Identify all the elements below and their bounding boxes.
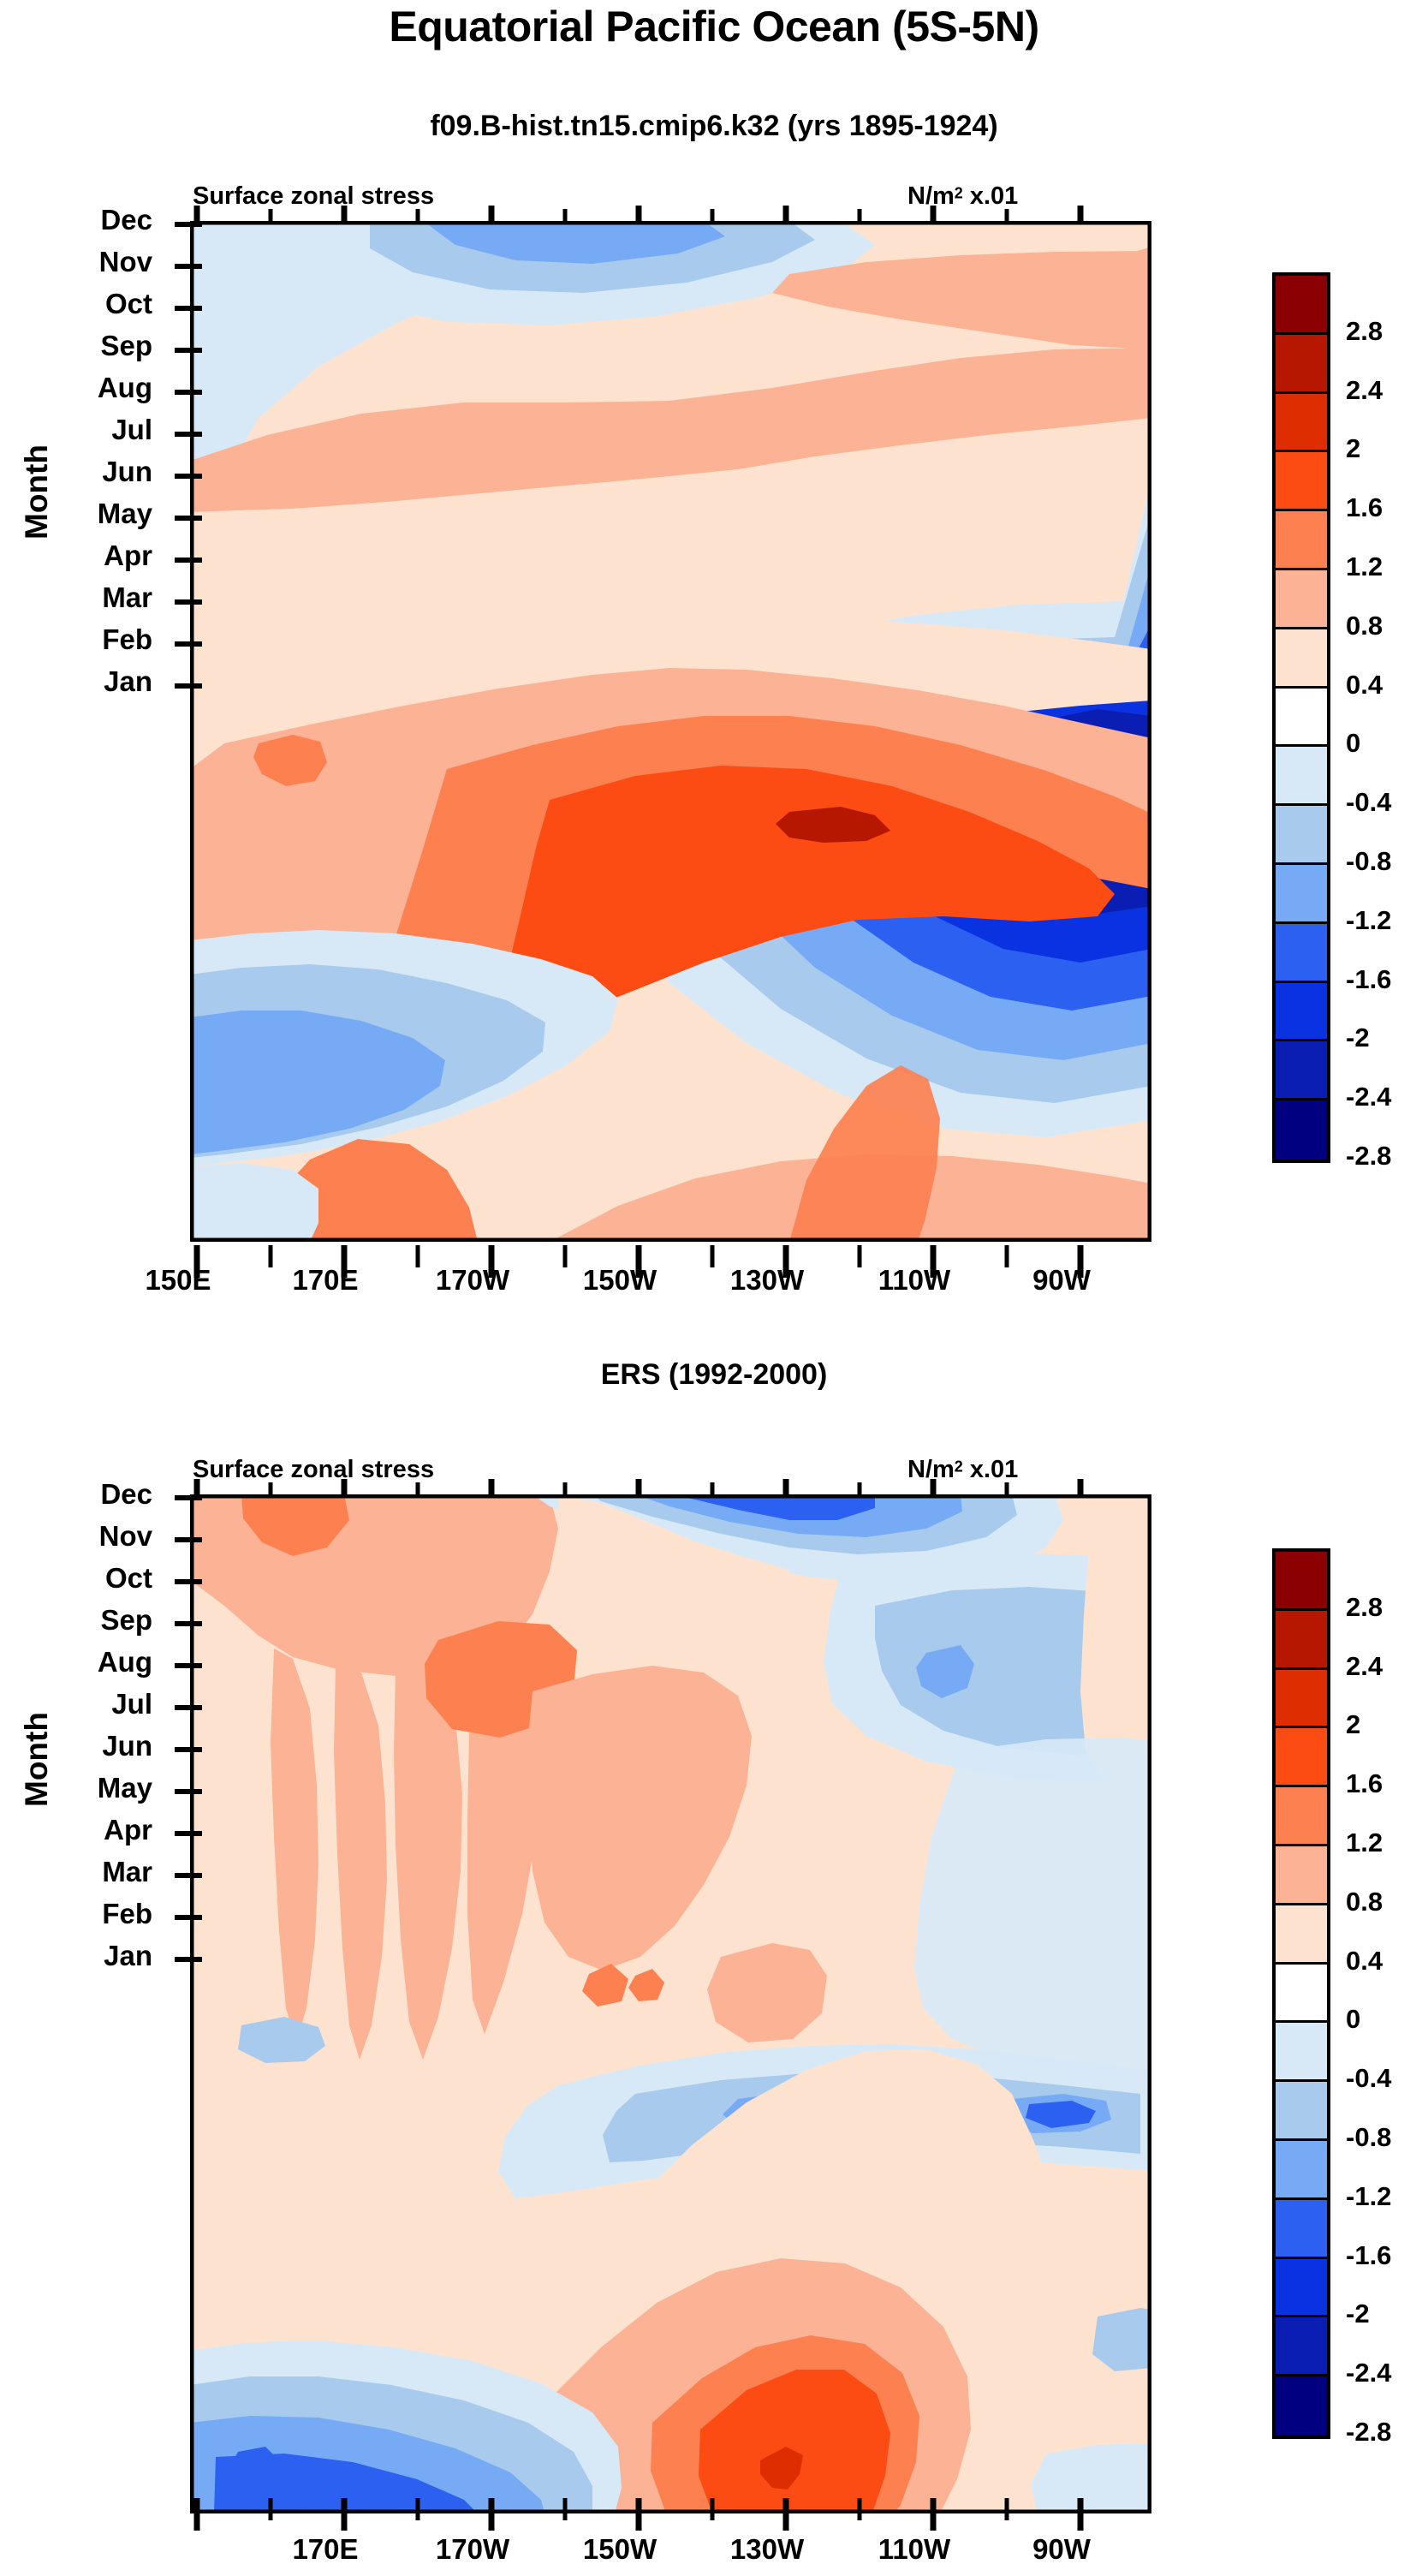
panel-2-ytick-jan: Jan xyxy=(33,1940,152,1972)
colorbar-1-swatch xyxy=(1276,747,1327,806)
panel-1-ytick-sep: Sep xyxy=(33,330,152,362)
colorbar-1-strip xyxy=(1272,272,1330,1163)
colorbar-1-swatch xyxy=(1276,452,1327,511)
colorbar-1-tick-label: 1.6 xyxy=(1346,492,1428,523)
panel-1-xtick-3: 150W xyxy=(551,1264,688,1297)
colorbar-2-swatch xyxy=(1276,2200,1327,2259)
panel-2-plot-area xyxy=(190,1494,1151,2513)
panel-1-unit-post: x.01 xyxy=(963,182,1019,210)
colorbar-2-tick-label: -2.8 xyxy=(1346,2417,1428,2448)
panel-1-ytick-oct: Oct xyxy=(33,288,152,320)
panel-1-xtick-4: 130W xyxy=(699,1264,836,1297)
colorbar-2-swatch xyxy=(1276,1905,1327,1965)
colorbar-1-tick-label: 0.4 xyxy=(1346,670,1428,701)
colorbar-1-tick-label: -1.2 xyxy=(1346,905,1428,936)
colorbar-1-swatch xyxy=(1276,983,1327,1042)
page-title: Equatorial Pacific Ocean (5S-5N) xyxy=(0,2,1428,51)
panel-2-unit-sup: 2 xyxy=(955,1458,963,1476)
colorbar-1-tick-label: -2.4 xyxy=(1346,1082,1428,1112)
colorbar-1-swatch xyxy=(1276,629,1327,689)
panel-2-contour-svg xyxy=(190,1494,1151,2513)
colorbar-2-swatch xyxy=(1276,2259,1327,2318)
colorbar-2-tick-label: 2.4 xyxy=(1346,1651,1428,1682)
panel-2-xtick-1: 170W xyxy=(404,2533,541,2566)
panel-2-xtick-0: 170E xyxy=(257,2533,394,2566)
panel-2-xtick-2: 150W xyxy=(551,2533,688,2566)
panel-2-var-label: Surface zonal stress xyxy=(193,1456,434,1484)
panel-1-ytick-jan: Jan xyxy=(33,665,152,698)
colorbar-1-swatch xyxy=(1276,394,1327,453)
panel-1-ytick-jul: Jul xyxy=(33,414,152,446)
colorbar-2-swatch xyxy=(1276,1670,1327,1729)
colorbar-1 xyxy=(1272,272,1330,1163)
panel-1-unit-pre: N/m xyxy=(907,182,955,210)
colorbar-1-swatch xyxy=(1276,511,1327,570)
panel-1-ytick-mar: Mar xyxy=(33,581,152,614)
colorbar-1-tick-label: -2 xyxy=(1346,1023,1428,1053)
colorbar-1-swatch xyxy=(1276,689,1327,748)
panel-1-ytick-jun: Jun xyxy=(33,456,152,488)
panel-2-ytick-oct: Oct xyxy=(33,1562,152,1595)
colorbar-2-swatch xyxy=(1276,2317,1327,2376)
colorbar-1-swatch xyxy=(1276,924,1327,983)
panel-1-ytick-dec: Dec xyxy=(33,204,152,236)
panel-2-ytick-apr: Apr xyxy=(33,1814,152,1846)
colorbar-1-swatch xyxy=(1276,806,1327,865)
colorbar-1-swatch xyxy=(1276,335,1327,394)
panel-2-unit-label: N/m2 x.01 xyxy=(907,1456,1018,1484)
colorbar-2-swatch xyxy=(1276,1846,1327,1905)
colorbar-2-tick-label: -1.6 xyxy=(1346,2240,1428,2271)
panel-2-ytick-sep: Sep xyxy=(33,1604,152,1637)
colorbar-1-tick-label: 2.8 xyxy=(1346,316,1428,347)
panel-2-var-text: Surface zonal stress xyxy=(193,1456,434,1483)
colorbar-2-tick-label: 0.8 xyxy=(1346,1887,1428,1917)
panel-2-ytick-feb: Feb xyxy=(33,1898,152,1930)
colorbar-2-tick-label: 2.8 xyxy=(1346,1592,1428,1623)
colorbar-2-swatch xyxy=(1276,1965,1327,2024)
colorbar-1-tick-label: -0.4 xyxy=(1346,787,1428,818)
colorbar-2-swatch xyxy=(1276,1552,1327,1611)
panel-2-title: ERS (1992-2000) xyxy=(0,1358,1428,1392)
colorbar-2-swatch xyxy=(1276,2023,1327,2082)
colorbar-1-tick-label: 1.2 xyxy=(1346,552,1428,582)
panel-1-xtick-0: 150E xyxy=(110,1264,247,1297)
colorbar-1-tick-label: -2.8 xyxy=(1346,1141,1428,1172)
panel-1-ytick-may: May xyxy=(33,498,152,530)
panel-2-ytick-dec: Dec xyxy=(33,1478,152,1511)
panel-1-var-label: Surface zonal stress xyxy=(193,182,434,211)
colorbar-2-tick-label: -0.8 xyxy=(1346,2122,1428,2153)
panel-2-unit-pre: N/m xyxy=(907,1456,955,1483)
panel-1-title: f09.B-hist.tn15.cmip6.k32 (yrs 1895-1924… xyxy=(0,110,1428,143)
panel-1-ytick-feb: Feb xyxy=(33,623,152,656)
colorbar-2-tick-label: -2.4 xyxy=(1346,2358,1428,2388)
colorbar-2-labels: 2.82.421.61.20.80.40-0.4-0.8-1.2-1.6-2-2… xyxy=(1346,1548,1428,2439)
colorbar-2-strip xyxy=(1272,1548,1330,2439)
panel-2-xtick-4: 110W xyxy=(846,2533,983,2566)
colorbar-1-swatch xyxy=(1276,865,1327,924)
colorbar-2-swatch xyxy=(1276,1787,1327,1846)
panel-2-ytick-mar: Mar xyxy=(33,1856,152,1888)
colorbar-2-swatch xyxy=(1276,2082,1327,2141)
panel-2-xtick-5: 90W xyxy=(993,2533,1130,2566)
panel-2-unit-post: x.01 xyxy=(963,1456,1019,1483)
panel-1-ytick-apr: Apr xyxy=(33,540,152,572)
panel-1-contour-svg xyxy=(190,221,1151,1242)
panel-1-xtick-5: 110W xyxy=(846,1264,983,1297)
panel-1-xtick-6: 90W xyxy=(993,1264,1130,1297)
panel-1-ytick-nov: Nov xyxy=(33,246,152,278)
colorbar-1-swatch xyxy=(1276,1041,1327,1100)
panel-1-ytick-aug: Aug xyxy=(33,372,152,404)
colorbar-1-tick-label: -0.8 xyxy=(1346,846,1428,877)
colorbar-1-swatch xyxy=(1276,276,1327,335)
panel-2-ytick-nov: Nov xyxy=(33,1520,152,1553)
colorbar-1-tick-label: 2 xyxy=(1346,433,1428,464)
colorbar-2-swatch xyxy=(1276,1611,1327,1670)
colorbar-2 xyxy=(1272,1548,1330,2439)
colorbar-2-tick-label: -1.2 xyxy=(1346,2181,1428,2212)
panel-2-ytick-may: May xyxy=(33,1772,152,1804)
panel-1-xtick-1: 170E xyxy=(257,1264,394,1297)
panel-1-xtick-2: 170W xyxy=(404,1264,541,1297)
panel-2-xtick-3: 130W xyxy=(699,2533,836,2566)
colorbar-2-tick-label: 1.2 xyxy=(1346,1828,1428,1858)
panel-2-ytick-aug: Aug xyxy=(33,1646,152,1679)
panel-1-var-text: Surface zonal stress xyxy=(193,182,434,210)
colorbar-1-tick-label: 0.8 xyxy=(1346,611,1428,641)
colorbar-2-tick-label: 0.4 xyxy=(1346,1946,1428,1977)
colorbar-1-tick-label: -1.6 xyxy=(1346,964,1428,995)
panel-1-plot-area xyxy=(190,221,1151,1242)
colorbar-1-tick-label: 0 xyxy=(1346,728,1428,759)
colorbar-2-tick-label: -2 xyxy=(1346,2299,1428,2329)
colorbar-1-tick-label: 2.4 xyxy=(1346,375,1428,406)
colorbar-1-swatch xyxy=(1276,570,1327,629)
colorbar-2-swatch xyxy=(1276,2141,1327,2200)
colorbar-2-tick-label: 2 xyxy=(1346,1709,1428,1740)
colorbar-2-swatch xyxy=(1276,1728,1327,1787)
panel-2-ytick-jun: Jun xyxy=(33,1730,152,1762)
colorbar-1-labels: 2.82.421.61.20.80.40-0.4-0.8-1.2-1.6-2-2… xyxy=(1346,272,1428,1163)
panel-2-ytick-jul: Jul xyxy=(33,1688,152,1720)
colorbar-1-swatch xyxy=(1276,1100,1327,1160)
colorbar-2-swatch xyxy=(1276,2376,1327,2436)
colorbar-2-tick-label: -0.4 xyxy=(1346,2063,1428,2094)
colorbar-2-tick-label: 1.6 xyxy=(1346,1768,1428,1799)
panel-1-unit-label: N/m2 x.01 xyxy=(907,182,1018,211)
panel-1-unit-sup: 2 xyxy=(955,185,963,202)
colorbar-2-tick-label: 0 xyxy=(1346,2004,1428,2035)
